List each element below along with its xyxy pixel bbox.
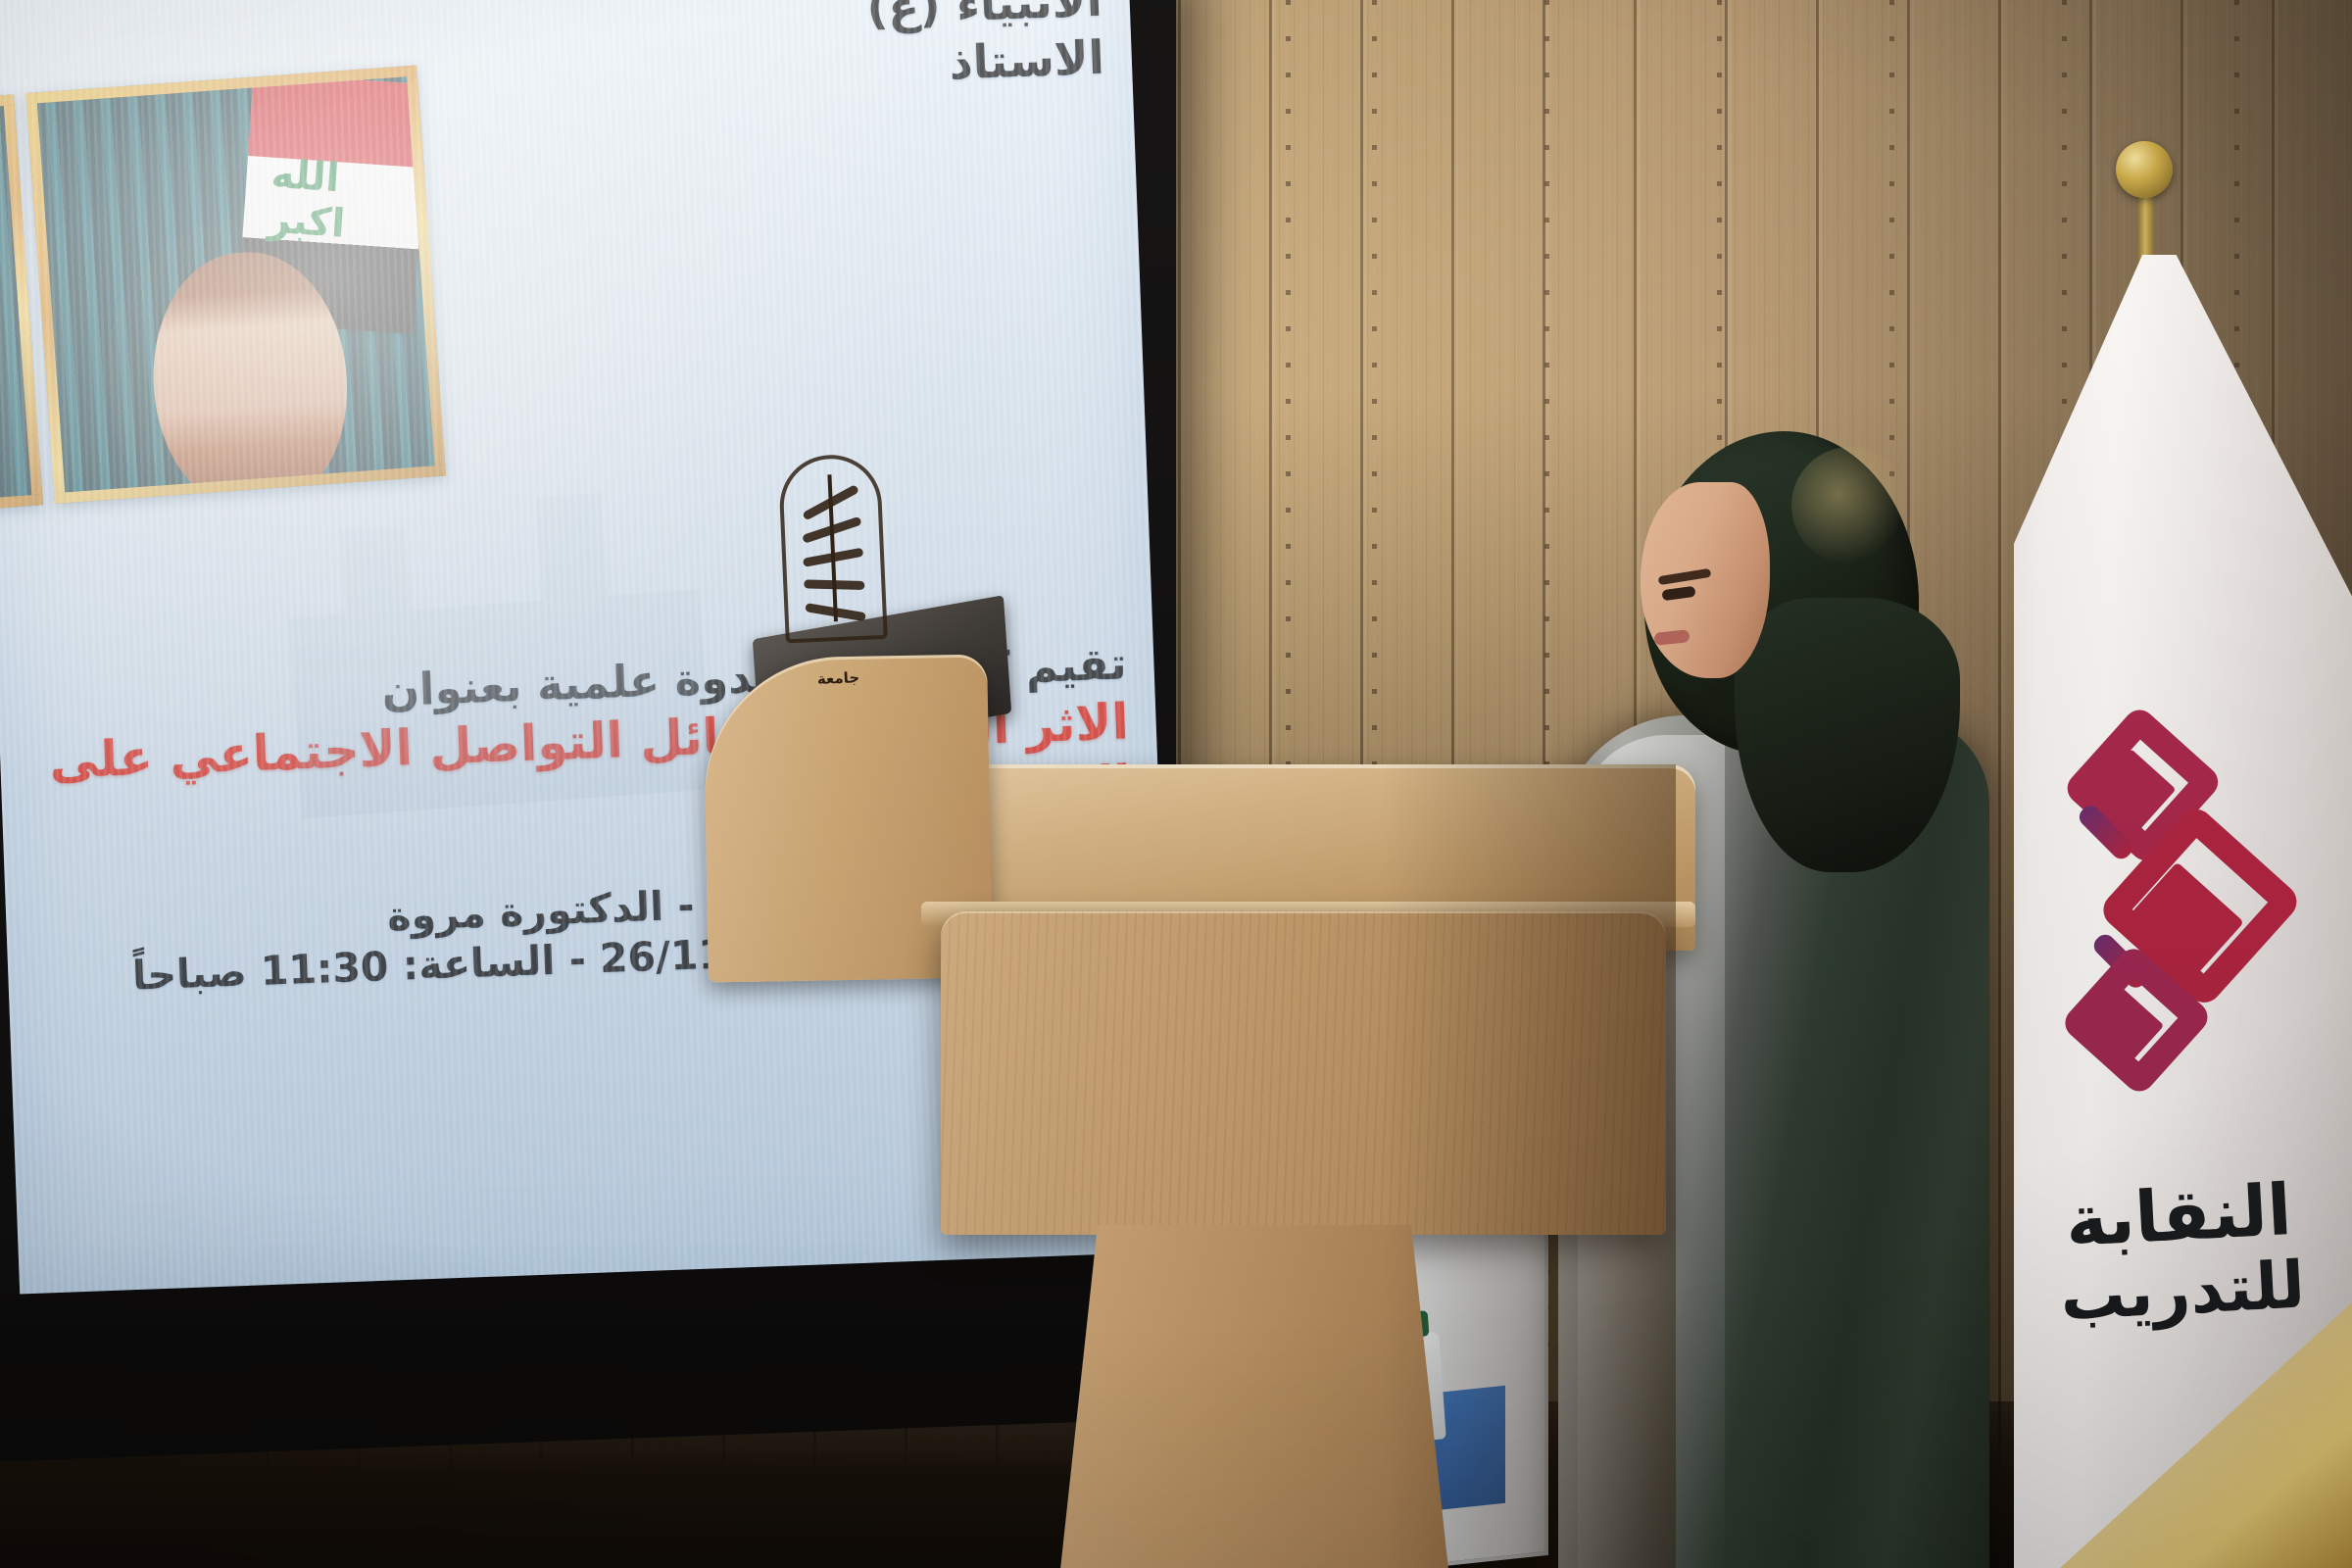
podium-base xyxy=(1058,1225,1450,1568)
conference-photo-scene: السيد عميد كلية الطب المحترم الانبياء (ع… xyxy=(0,0,2352,1568)
eye xyxy=(1661,586,1695,602)
gold-ball-finial-icon xyxy=(2116,141,2173,198)
university-emblem: جامعة xyxy=(769,439,898,694)
banner-title-line-2: للتدريب xyxy=(2024,1247,2340,1336)
flag-inscription: الله اكبر xyxy=(268,164,399,237)
lips xyxy=(1653,629,1690,646)
gold-drape-corner xyxy=(2038,1294,2352,1568)
slide-portrait-main: الله اكبر xyxy=(25,66,446,505)
podium-front-panel xyxy=(941,911,1666,1235)
eyebrow xyxy=(1658,568,1712,585)
banner-cloth: النقابة للتدريب xyxy=(2014,255,2352,1568)
speaker-head xyxy=(1644,431,1919,755)
hijab-highlight xyxy=(1791,447,1909,564)
wooden-podium: جامعة xyxy=(774,911,1774,1568)
emblem-frond xyxy=(804,579,864,590)
rollup-banner: النقابة للتدريب xyxy=(2014,147,2352,1568)
diamond-chain-logo-icon xyxy=(2060,710,2317,1143)
banner-title-block: النقابة للتدريب xyxy=(2020,1168,2341,1336)
emblem-caption: جامعة xyxy=(779,667,898,689)
speaker-face xyxy=(1641,482,1770,678)
